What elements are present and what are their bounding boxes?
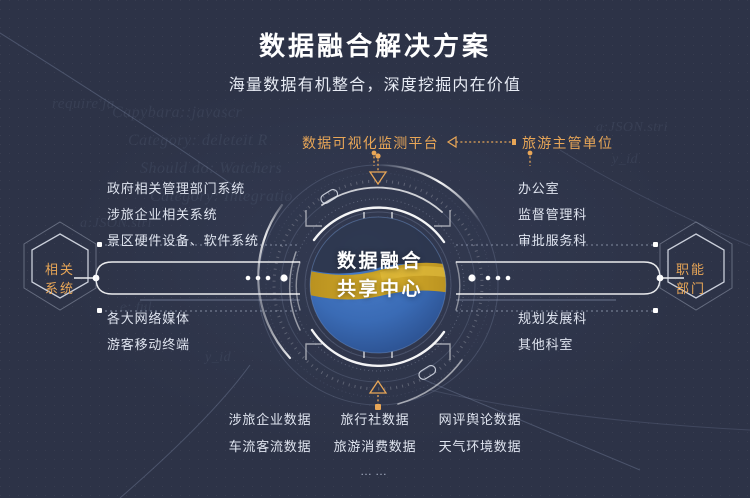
list-item: 旅行社数据 [323, 406, 428, 433]
bottom-data-grid: 涉旅企业数据 旅行社数据 网评舆论数据 车流客流数据 旅游消费数据 天气环境数据… [0, 406, 750, 478]
right-hexagon-line1: 职能 [648, 260, 734, 279]
list-item: 审批服务科 [518, 228, 587, 254]
core-line2: 共享中心 [300, 276, 460, 304]
right-column-bottom: 规划发展科 其他科室 [518, 306, 587, 358]
list-item: 景区硬件设备、软件系统 [107, 228, 259, 254]
right-hexagon-label: 职能 部门 [648, 260, 734, 298]
list-item: 车流客流数据 [218, 433, 323, 460]
left-hexagon-label: 相关 系统 [17, 260, 103, 298]
list-item: 天气环境数据 [428, 433, 533, 460]
page-subtitle: 海量数据有机整合，深度挖掘内在价值 [0, 71, 750, 95]
right-hexagon-line2: 部门 [648, 279, 734, 298]
list-item: 网评舆论数据 [428, 406, 533, 433]
list-item: 其他科室 [518, 332, 587, 358]
list-item: 规划发展科 [518, 306, 587, 332]
list-item: 各大网络媒体 [107, 306, 190, 332]
list-item: 监督管理科 [518, 202, 587, 228]
list-item: 办公室 [518, 176, 587, 202]
top-label-platform: 数据可视化监测平台 [302, 133, 439, 153]
core-label: 数据融合 共享中心 [300, 248, 460, 304]
list-item: 涉旅企业数据 [218, 406, 323, 433]
list-item: 旅游消费数据 [323, 433, 428, 460]
left-column-top: 政府相关管理部门系统 涉旅企业相关系统 景区硬件设备、软件系统 [107, 176, 259, 254]
top-label-authority: 旅游主管单位 [522, 133, 613, 153]
left-hexagon-line2: 系统 [17, 279, 103, 298]
list-item: 游客移动终端 [107, 332, 190, 358]
core-line1: 数据融合 [300, 248, 460, 276]
list-item: 涉旅企业相关系统 [107, 202, 259, 228]
left-hexagon-line1: 相关 [17, 260, 103, 279]
bottom-ellipsis: …… [360, 464, 390, 478]
list-item: 政府相关管理部门系统 [107, 176, 259, 202]
table-row: 车流客流数据 旅游消费数据 天气环境数据 [218, 433, 533, 460]
left-column-bottom: 各大网络媒体 游客移动终端 [107, 306, 190, 358]
page-title: 数据融合解决方案 [0, 26, 750, 63]
right-column-top: 办公室 监督管理科 审批服务科 [518, 176, 587, 254]
table-row: 涉旅企业数据 旅行社数据 网评舆论数据 [218, 406, 533, 433]
